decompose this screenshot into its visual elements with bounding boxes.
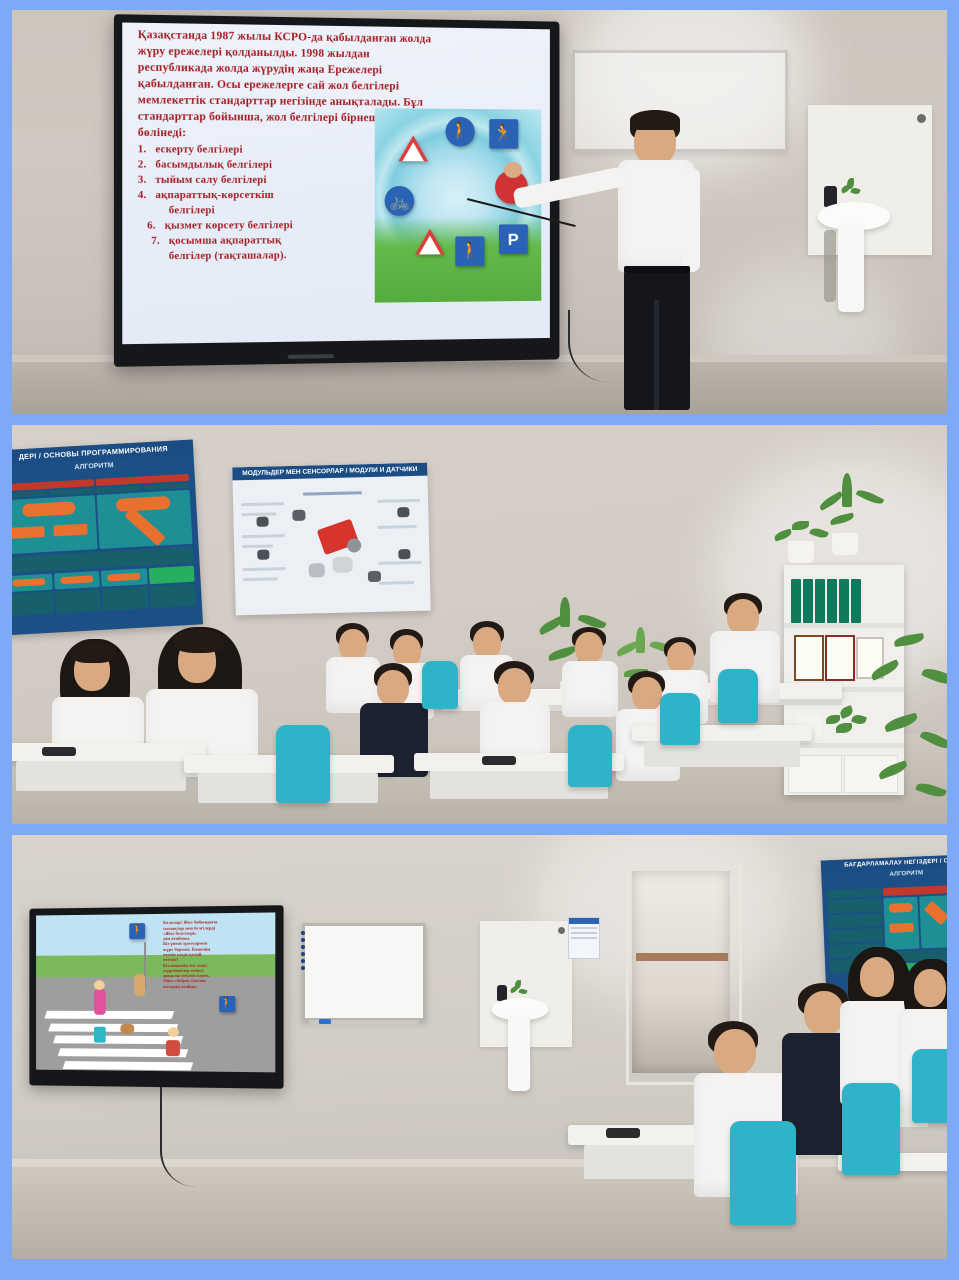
chair-bottom-3[interactable]: [912, 1049, 947, 1123]
parking-sign: P: [499, 224, 528, 254]
pot-top-2: [832, 533, 858, 555]
photo-panel-presentation: Қазақстанда 1987 жылы КСРО-да қабылданға…: [12, 10, 947, 414]
sensor-graphic-2: [309, 563, 325, 577]
sensor-graphic-4: [292, 510, 305, 521]
eraser[interactable]: [319, 1019, 331, 1024]
photo-panel-video-lesson: 🚶 🚶 Балалар! Жол бойындағы сызықтар мен …: [12, 835, 947, 1259]
sink-pedestal: [838, 226, 864, 312]
bicycle-lane-sign: 🚲: [385, 186, 415, 216]
sensor-graphic-9: [398, 549, 410, 559]
small-plant: [840, 178, 860, 204]
board-brand-strip: [288, 354, 334, 359]
chair-3[interactable]: [568, 725, 612, 787]
right-arm: [682, 168, 700, 272]
cartoon-child: [134, 974, 145, 996]
wall-notice: [568, 917, 600, 959]
binder: [851, 579, 861, 623]
phone-on-desk-2: [482, 756, 516, 765]
sensor-graphic: [332, 556, 352, 572]
binder: [839, 579, 849, 623]
pedestrian-crossing-sign-screen: 🚶: [130, 924, 146, 940]
hair-front: [630, 110, 680, 130]
pedestrian-crossing-sign: 🚶: [455, 236, 484, 266]
chair-4[interactable]: [718, 669, 758, 723]
tv-screen[interactable]: 🚶 🚶 Балалар! Жол бойындағы сызықтар мен …: [36, 912, 275, 1072]
wall-hook-icon: [917, 114, 926, 123]
shelf-plant: [824, 703, 870, 739]
belt: [624, 266, 690, 273]
cartoon-dog: [120, 1024, 134, 1034]
cartoon-boy: [165, 1040, 179, 1056]
sensor-graphic-8: [397, 507, 409, 517]
binder: [827, 579, 837, 623]
poster-programming-basics: ДЕРІ / ОСНОВЫ ПРОГРАММИРОВАНИЯ АЛГОРИТМ: [12, 440, 203, 636]
poster-modules-sensors: МОДУЛЬДЕР МЕН СЕНСОРЛАР / МОДУЛИ И ДАТЧИ…: [232, 463, 431, 616]
running-lane-sign: 🏃: [489, 119, 518, 149]
floor-plant-right: [870, 625, 947, 820]
certificate: [794, 635, 824, 681]
sensor-graphic-5: [367, 570, 380, 581]
leg-split: [654, 300, 659, 410]
chair-1[interactable]: [276, 725, 330, 803]
railway-crossing-sign: [415, 229, 444, 255]
chair-2[interactable]: [422, 661, 458, 709]
desk-right-back: [632, 725, 812, 741]
photo-collage: Қазақстанда 1987 жылы КСРО-да қабылданға…: [0, 0, 959, 1280]
sink-pipes: [824, 230, 836, 302]
binder: [815, 579, 825, 623]
corridor-wall-stripe: [636, 953, 728, 961]
sensor-graphic-3: [347, 538, 361, 552]
slide-paragraph-1: Қазақстанда 1987 жылы КСРО-да қабылданға…: [138, 29, 457, 48]
sensor-graphic-7: [258, 549, 270, 559]
chair-bottom-1[interactable]: [730, 1121, 796, 1225]
chair-bottom-2[interactable]: [842, 1083, 900, 1175]
phone-on-desk: [606, 1128, 640, 1138]
sensor-graphic-6: [257, 517, 269, 527]
binder: [803, 579, 813, 623]
chair-5[interactable]: [660, 693, 700, 745]
tv-text-block: Балалар! Жол бойындағы сызықтар мен белг…: [163, 919, 273, 989]
board-screen[interactable]: Қазақстанда 1987 жылы КСРО-да қабылданға…: [122, 22, 550, 344]
slide-paragraph-4: қабылданған. Осы ережелерге сай жол белг…: [138, 78, 457, 95]
warning-children-sign: [398, 136, 427, 162]
pointing-hand: [504, 162, 522, 178]
slide-paragraph-3: республикада жолда жүрудің жаңа Ережелер…: [138, 62, 457, 80]
tv-text-line-13: жолдан) атайды.: [163, 983, 273, 989]
hanging-plant-2: [812, 469, 892, 535]
sink-pedestal: [508, 1017, 530, 1091]
presentation-slide: Қазақстанда 1987 жылы КСРО-да қабылданға…: [122, 22, 550, 344]
whiteboard[interactable]: [302, 923, 426, 1021]
interactive-whiteboard[interactable]: Қазақстанда 1987 жылы КСРО-да қабылданға…: [114, 14, 560, 367]
certificate: [825, 635, 855, 681]
pedestrian-sign: 🚶: [445, 116, 474, 146]
student-presenter: [572, 110, 732, 410]
slide-paragraph-2: жүру ережелері қолданылды. 1998 жылдан: [138, 45, 457, 63]
pedestrian-crossing-sign-screen-2: 🚶: [219, 996, 235, 1012]
phone-on-desk: [42, 747, 76, 756]
wall-tv[interactable]: 🚶 🚶 Балалар! Жол бойындағы сызықтар мен …: [29, 905, 283, 1089]
photo-panel-classroom: ДЕРІ / ОСНОВЫ ПРОГРАММИРОВАНИЯ АЛГОРИТМ: [12, 425, 947, 824]
wall-hook-icon: [558, 927, 565, 934]
small-plant: [510, 980, 526, 1000]
cartoon-girl: [94, 989, 106, 1015]
binder: [791, 579, 801, 623]
